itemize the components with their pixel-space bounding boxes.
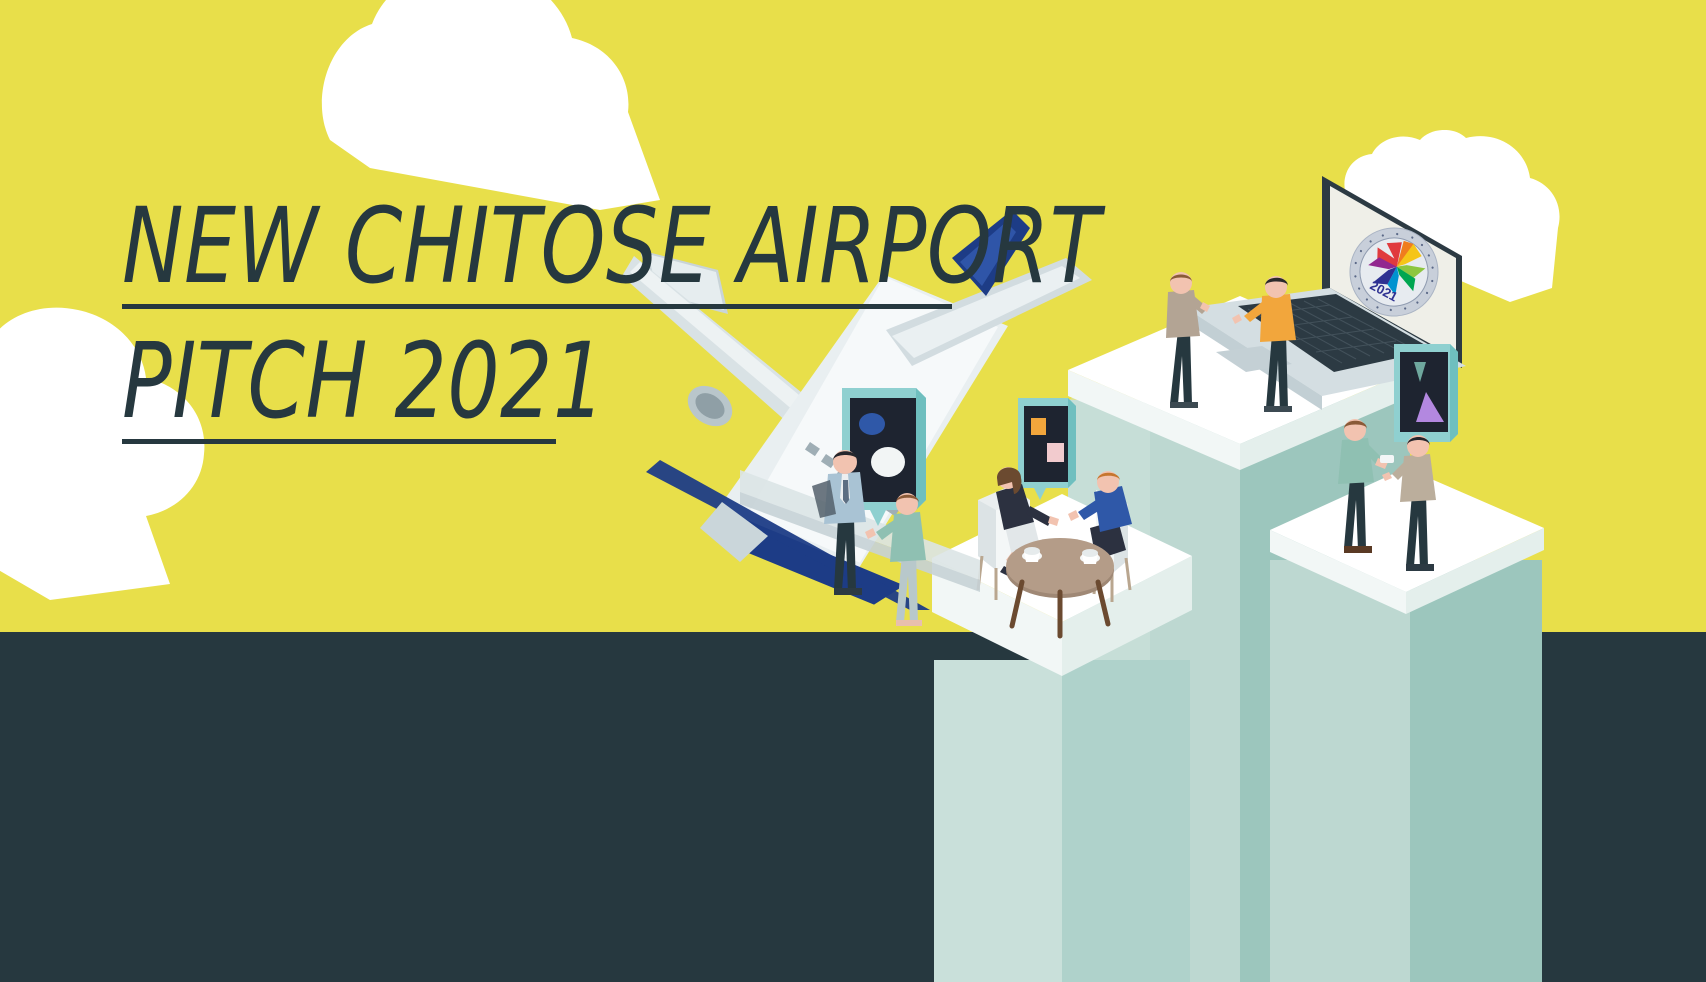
shape-square-pink xyxy=(1047,443,1064,462)
poster-title: NEW CHITOSE AIRPORT PITCH 2021 xyxy=(122,196,1022,466)
screen-bubble-triangles xyxy=(1394,344,1458,454)
title-line-1: NEW CHITOSE AIRPORT xyxy=(122,196,914,298)
poster-canvas: NEW CHITOSE AIRPORT PITCH 2021 xyxy=(0,0,1706,982)
title-line-2-wrap: PITCH 2021 xyxy=(122,331,1022,444)
column-right-standing xyxy=(1270,468,1544,982)
isometric-scene: 2021 ANIMATION FESTIVAL NEW CHITOSE AIRP… xyxy=(0,0,1706,982)
title-line-1-wrap: NEW CHITOSE AIRPORT xyxy=(122,196,1022,309)
screen-bubble-squares xyxy=(1018,398,1076,500)
title-line-2: PITCH 2021 xyxy=(122,331,914,433)
shape-square-orange xyxy=(1031,418,1046,435)
